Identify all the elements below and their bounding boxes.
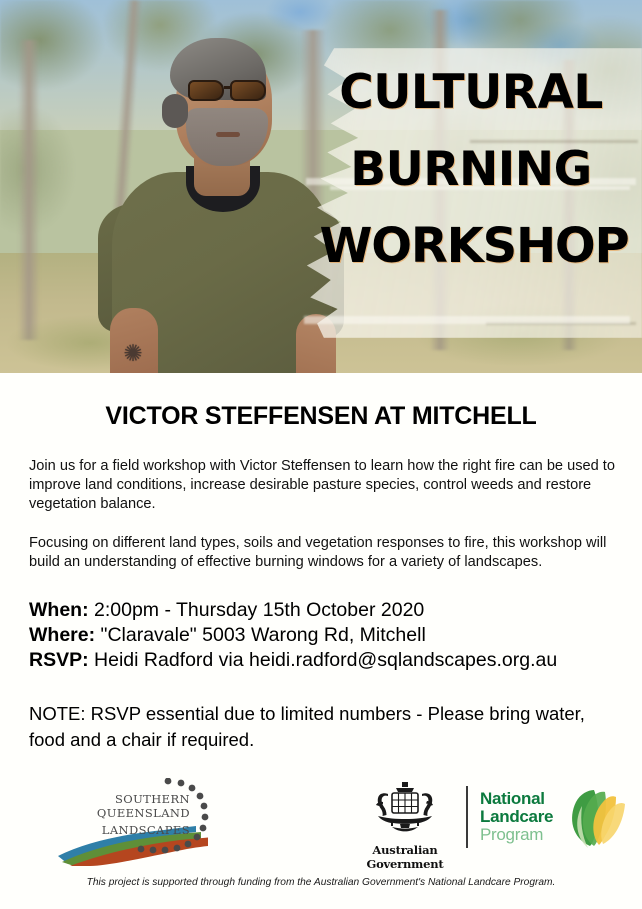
sql-logo-line-2: LANDSCAPES xyxy=(54,823,190,837)
logo-divider xyxy=(466,786,468,848)
hair-bun xyxy=(162,94,188,128)
mouth xyxy=(216,132,240,137)
beard xyxy=(186,108,268,166)
brush-streak xyxy=(304,316,630,324)
funding-footer: This project is supported through fundin… xyxy=(0,877,642,888)
sql-logo-text: SOUTHERN QUEENSLAND LANDSCAPES xyxy=(54,792,190,837)
detail-label-when: When: xyxy=(29,599,89,621)
landcare-logo-text: National Landcare Program xyxy=(480,790,553,844)
poster: ✺ CULTURAL BURNING WORKSHOP VICTOR STE xyxy=(0,0,642,909)
sunglasses-left-lens xyxy=(188,80,224,101)
commonwealth-coat-of-arms-icon xyxy=(352,780,458,836)
landcare-line-2: Landcare xyxy=(480,808,553,826)
southern-queensland-landscapes-logo: SOUTHERN QUEENSLAND LANDSCAPES xyxy=(46,778,226,866)
hero-photo: ✺ CULTURAL BURNING WORKSHOP xyxy=(0,0,642,373)
detail-value-rsvp[interactable]: Heidi Radford via heidi.radford@sqlandsc… xyxy=(94,649,557,671)
detail-row-when: When: 2:00pm - Thursday 15th October 202… xyxy=(29,598,642,623)
poster-title: CULTURAL BURNING WORKSHOP xyxy=(300,54,642,285)
detail-value-when: 2:00pm - Thursday 15th October 2020 xyxy=(94,599,424,621)
intro-paragraph-1: Join us for a field workshop with Victor… xyxy=(0,457,642,514)
detail-label-where: Where: xyxy=(29,624,95,646)
landcare-line-1: National xyxy=(480,790,553,808)
national-landcare-program-logo: National Landcare Program xyxy=(480,786,630,852)
landcare-leaf-icon xyxy=(550,788,628,850)
page-title: VICTOR STEFFENSEN AT MITCHELL xyxy=(0,402,642,431)
australian-government-logo: Australian Government xyxy=(352,780,458,856)
sunglasses-icon xyxy=(188,78,272,102)
detail-row-rsvp: RSVP: Heidi Radford via heidi.radford@sq… xyxy=(29,648,642,673)
title-line-2: BURNING xyxy=(300,131,642,208)
sunglasses-right-lens xyxy=(230,80,266,101)
intro-paragraph-2: Focusing on different land types, soils … xyxy=(0,534,642,572)
detail-value-where: "Claravale" 5003 Warong Rd, Mitchell xyxy=(101,624,426,646)
sql-logo-line-1: SOUTHERN QUEENSLAND xyxy=(54,792,190,820)
arm-tattoo: ✺ xyxy=(120,340,146,366)
detail-row-where: Where: "Claravale" 5003 Warong Rd, Mitch… xyxy=(29,623,642,648)
australian-government-label: Australian Government xyxy=(352,843,458,871)
body-content: VICTOR STEFFENSEN AT MITCHELL Join us fo… xyxy=(0,373,642,772)
title-line-3: WORKSHOP xyxy=(306,208,642,285)
note-paragraph: NOTE: RSVP essential due to limited numb… xyxy=(0,701,642,753)
event-details: When: 2:00pm - Thursday 15th October 202… xyxy=(0,598,642,673)
logo-strip: SOUTHERN QUEENSLAND LANDSCAPES xyxy=(0,770,642,870)
landcare-line-3: Program xyxy=(480,826,553,844)
title-line-1: CULTURAL xyxy=(300,54,642,131)
detail-label-rsvp: RSVP: xyxy=(29,649,89,671)
